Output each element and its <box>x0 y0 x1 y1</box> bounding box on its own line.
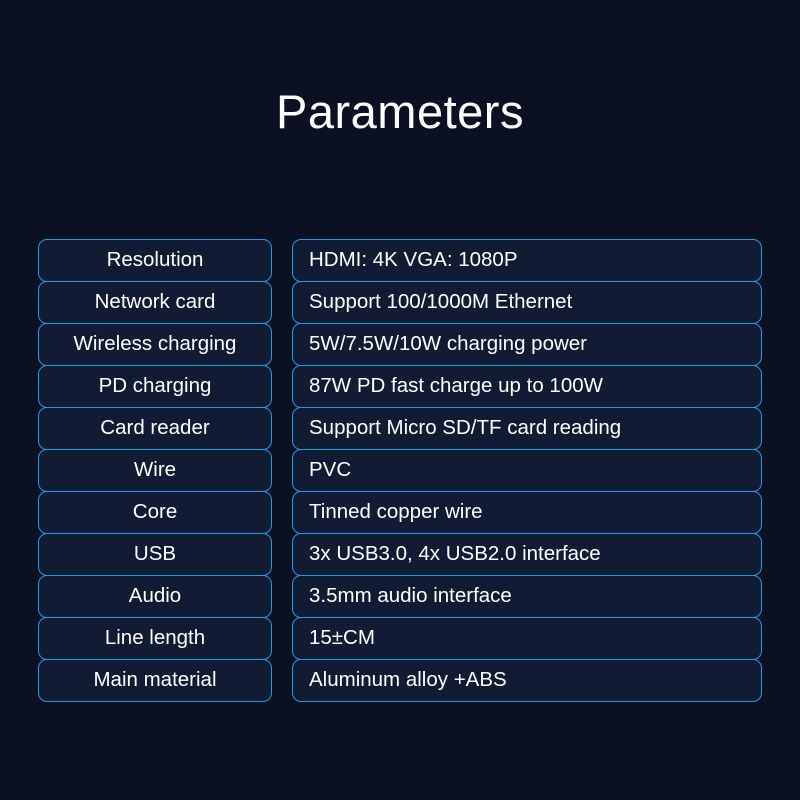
page-title: Parameters <box>0 84 800 140</box>
specification-table: ResolutionHDMI: 4K VGA: 1080PNetwork car… <box>38 239 762 701</box>
spec-label-cell: PD charging <box>38 365 272 408</box>
spec-label-cell: Resolution <box>38 239 272 282</box>
spec-value-cell: 3.5mm audio interface <box>292 575 762 618</box>
spec-label-cell: Wire <box>38 449 272 492</box>
spec-value-cell: 15±CM <box>292 617 762 660</box>
spec-value-cell: HDMI: 4K VGA: 1080P <box>292 239 762 282</box>
table-row: USB3x USB3.0, 4x USB2.0 interface <box>38 533 762 576</box>
table-row: ResolutionHDMI: 4K VGA: 1080P <box>38 239 762 282</box>
table-row: Line length15±CM <box>38 617 762 660</box>
spec-label-cell: Wireless charging <box>38 323 272 366</box>
spec-label-cell: Core <box>38 491 272 534</box>
table-row: Card readerSupport Micro SD/TF card read… <box>38 407 762 450</box>
spec-value-cell: 5W/7.5W/10W charging power <box>292 323 762 366</box>
table-row: CoreTinned copper wire <box>38 491 762 534</box>
parameters-page: Parameters ResolutionHDMI: 4K VGA: 1080P… <box>0 0 800 800</box>
spec-value-cell: Aluminum alloy +ABS <box>292 659 762 702</box>
spec-value-cell: Support Micro SD/TF card reading <box>292 407 762 450</box>
spec-label-cell: Network card <box>38 281 272 324</box>
table-row: Wireless charging5W/7.5W/10W charging po… <box>38 323 762 366</box>
spec-value-cell: 3x USB3.0, 4x USB2.0 interface <box>292 533 762 576</box>
spec-value-cell: PVC <box>292 449 762 492</box>
spec-value-cell: Support 100/1000M Ethernet <box>292 281 762 324</box>
table-row: PD charging87W PD fast charge up to 100W <box>38 365 762 408</box>
spec-label-cell: Card reader <box>38 407 272 450</box>
table-row: WirePVC <box>38 449 762 492</box>
table-row: Main materialAluminum alloy +ABS <box>38 659 762 702</box>
spec-value-cell: 87W PD fast charge up to 100W <box>292 365 762 408</box>
spec-value-cell: Tinned copper wire <box>292 491 762 534</box>
spec-label-cell: USB <box>38 533 272 576</box>
table-row: Network cardSupport 100/1000M Ethernet <box>38 281 762 324</box>
spec-label-cell: Line length <box>38 617 272 660</box>
spec-label-cell: Main material <box>38 659 272 702</box>
spec-label-cell: Audio <box>38 575 272 618</box>
table-row: Audio3.5mm audio interface <box>38 575 762 618</box>
